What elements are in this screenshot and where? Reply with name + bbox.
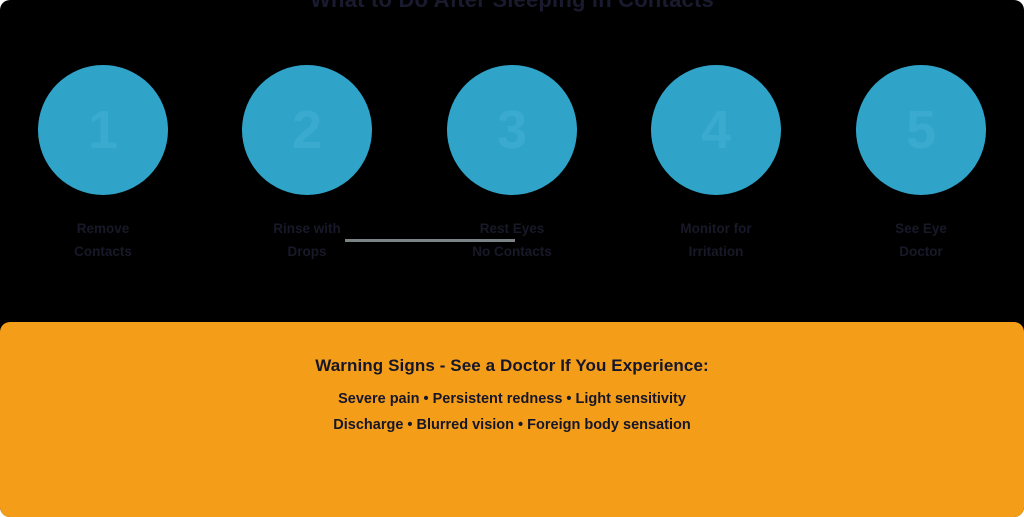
step-label-1: Remove Contacts <box>1 217 205 263</box>
step-label-2: Rinse with Drops <box>205 217 409 263</box>
step-circle-5[interactable]: 5 <box>856 65 986 195</box>
step-number-3: 3 <box>497 103 527 157</box>
step-label-5: See Eye Doctor <box>819 217 1023 263</box>
step-circle-1[interactable]: 1 <box>38 65 168 195</box>
steps-row: 1 Remove Contacts 2 Rinse with Drops 3 R… <box>0 60 1024 270</box>
step-item-5[interactable]: 5 See Eye Doctor <box>819 60 1023 263</box>
step-item-2[interactable]: 2 Rinse with Drops <box>205 60 409 263</box>
step-number-1: 1 <box>88 103 118 157</box>
step-number-2: 2 <box>292 103 322 157</box>
step-item-1[interactable]: 1 Remove Contacts <box>1 60 205 263</box>
warning-symptoms-line-1: Severe pain • Persistent redness • Light… <box>0 391 1024 407</box>
step-circle-3[interactable]: 3 <box>447 65 577 195</box>
infographic-canvas: What to Do After Sleeping in Contacts 1 … <box>0 0 1024 517</box>
step-number-5: 5 <box>906 103 936 157</box>
warning-symptoms-line-2: Discharge • Blurred vision • Foreign bod… <box>0 417 1024 433</box>
step-circle-2[interactable]: 2 <box>242 65 372 195</box>
step-label-4: Monitor for Irritation <box>614 217 818 263</box>
step-circle-4[interactable]: 4 <box>651 65 781 195</box>
warning-heading: Warning Signs - See a Doctor If You Expe… <box>0 356 1024 376</box>
warning-banner: Warning Signs - See a Doctor If You Expe… <box>0 322 1024 517</box>
page-title: What to Do After Sleeping in Contacts <box>0 0 1024 14</box>
step-label-3: Rest Eyes No Contacts <box>410 217 614 263</box>
step-number-4: 4 <box>701 103 731 157</box>
step-item-3[interactable]: 3 Rest Eyes No Contacts <box>410 60 614 263</box>
step-item-4[interactable]: 4 Monitor for Irritation <box>614 60 818 263</box>
